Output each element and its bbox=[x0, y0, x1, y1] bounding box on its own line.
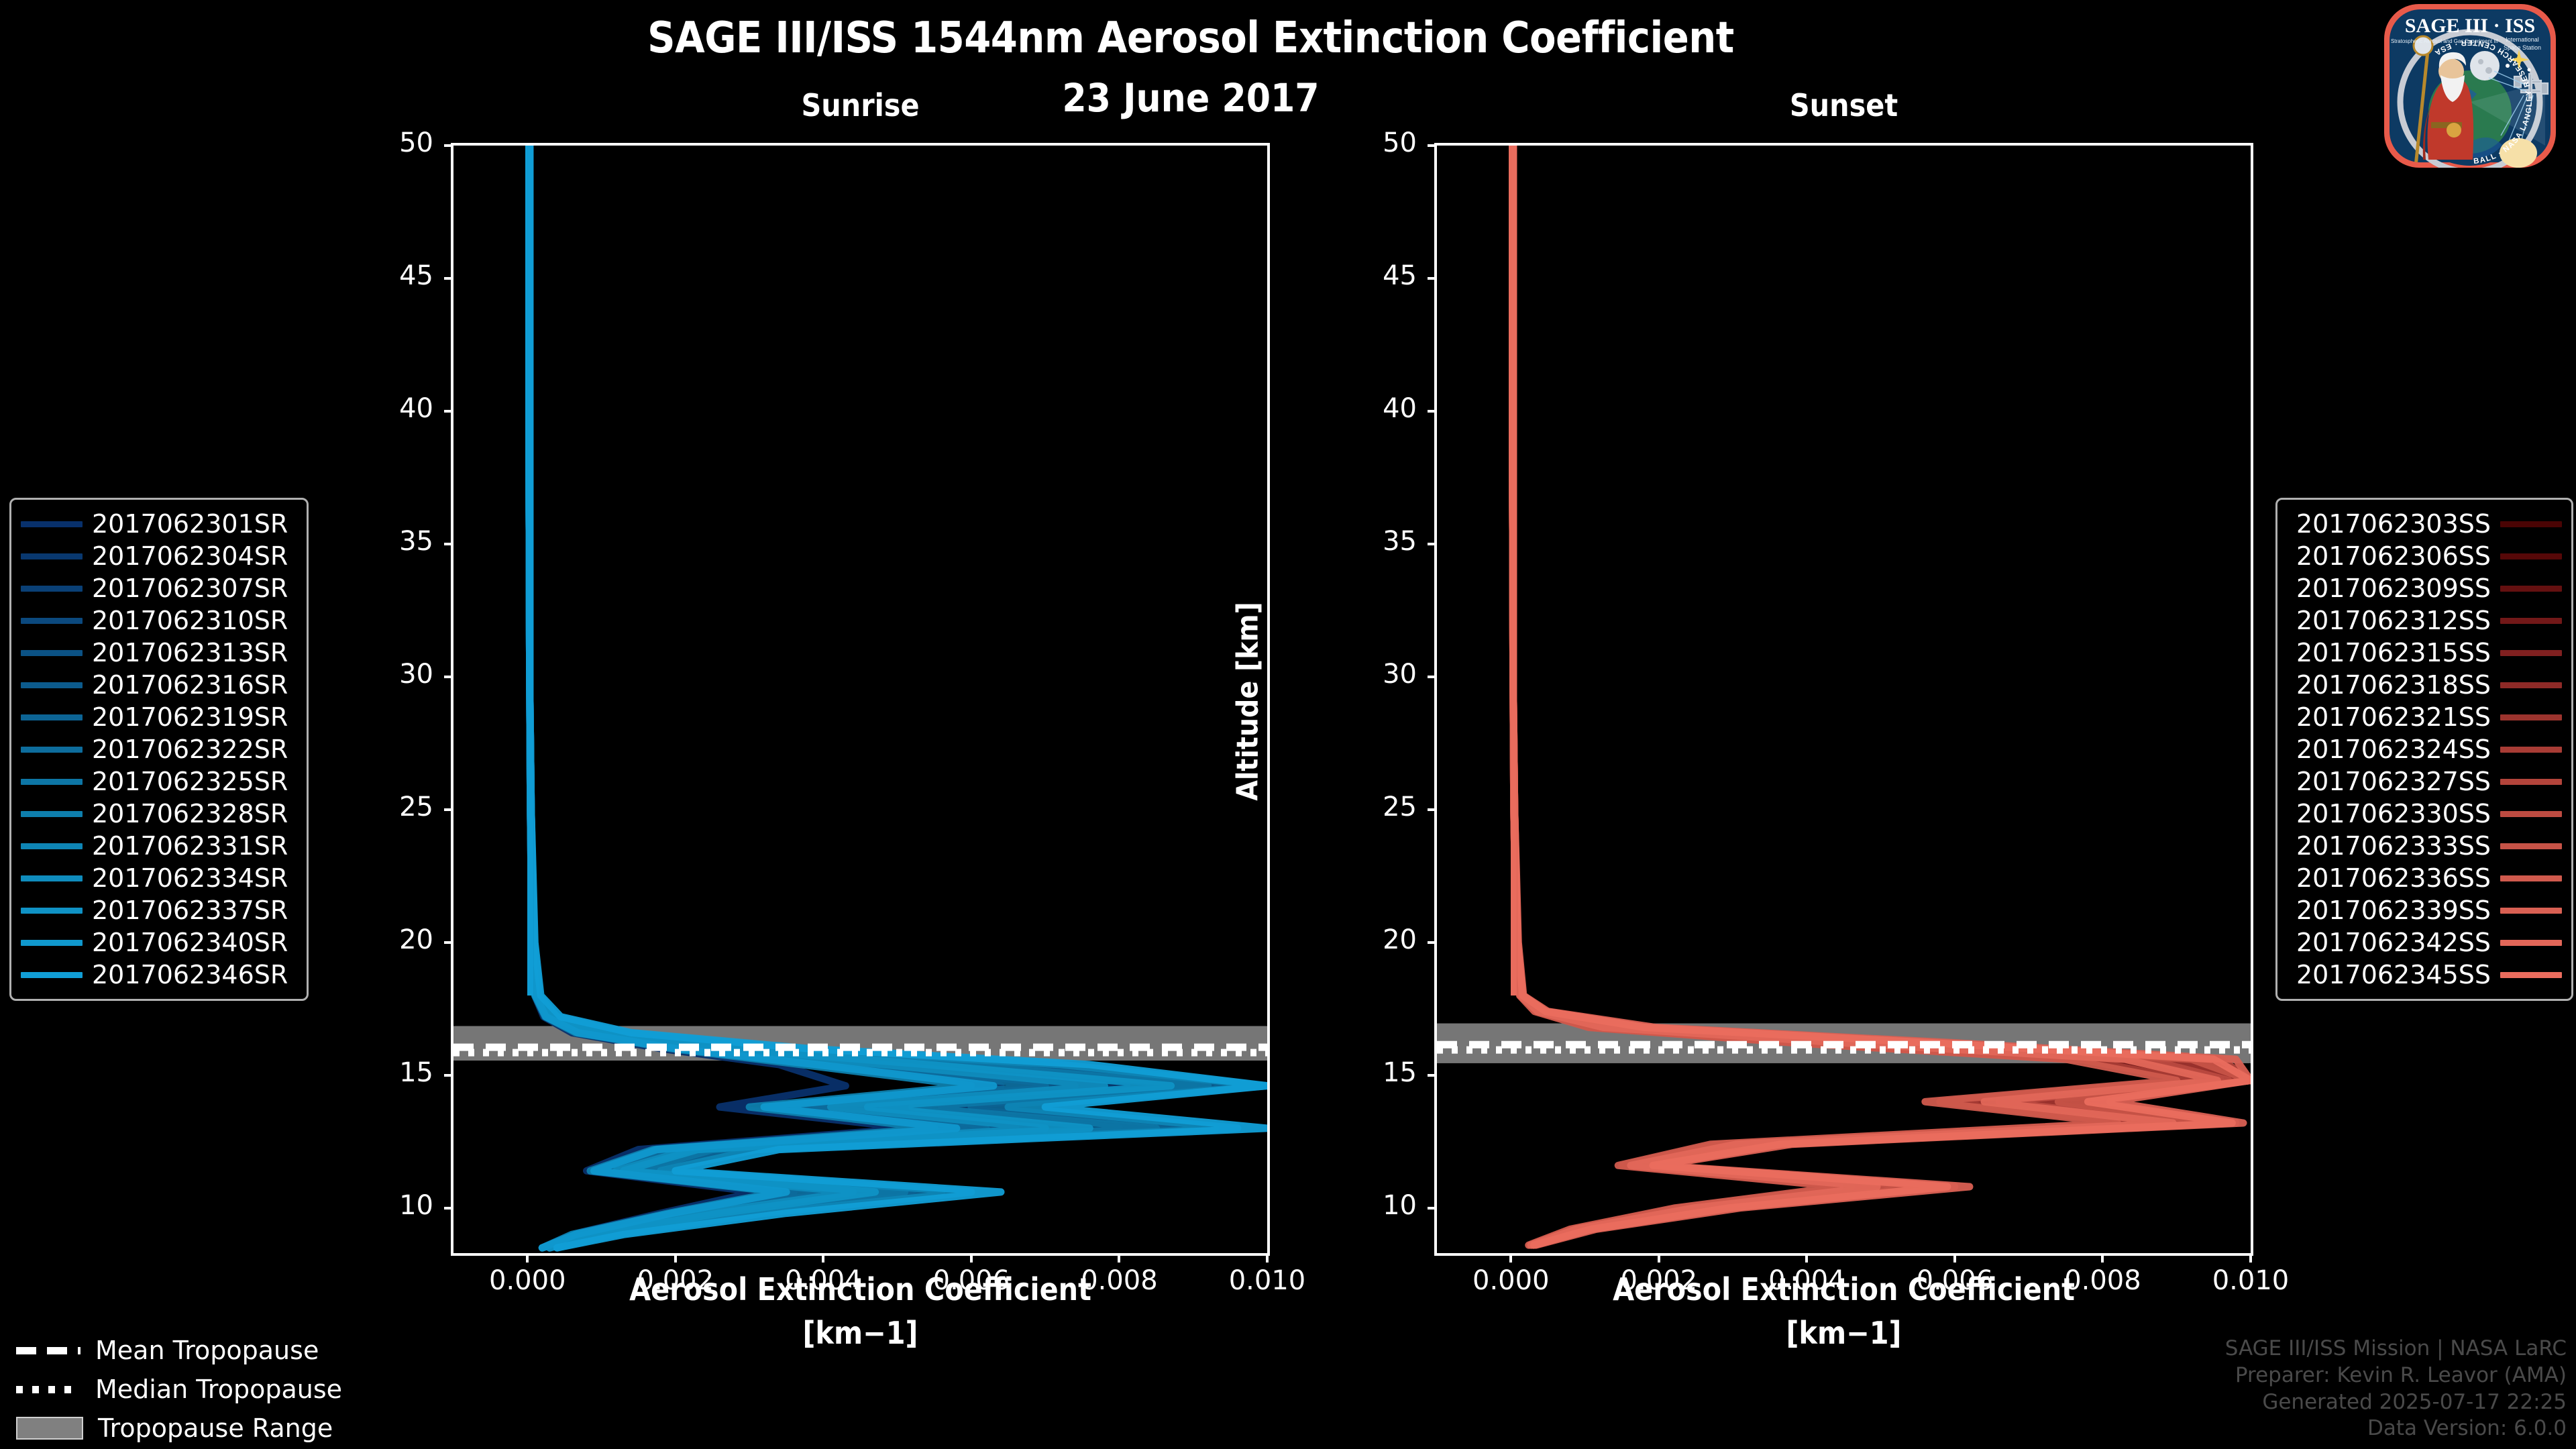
legend-color-swatch bbox=[21, 553, 83, 559]
tropopause-key-label: Mean Tropopause bbox=[95, 1336, 319, 1365]
legend-label: 2017062301SR bbox=[83, 509, 297, 539]
xtick-mark bbox=[970, 1253, 973, 1263]
xaxis-title-sunset-line2: [km−1] bbox=[1434, 1315, 2253, 1351]
ytick-label: 45 bbox=[1343, 260, 1417, 291]
legend-label: 2017062345SS bbox=[2287, 960, 2500, 989]
legend-sunset-item[interactable]: 2017062306SS bbox=[2287, 540, 2562, 572]
legend-label: 2017062322SR bbox=[83, 735, 297, 764]
panel-title-sunrise: Sunrise bbox=[451, 87, 1270, 123]
tropopause-dashed-glyph-icon bbox=[16, 1347, 80, 1354]
legend-sunrise-item[interactable]: 2017062301SR bbox=[21, 508, 297, 540]
legend-color-swatch bbox=[2500, 618, 2562, 624]
legend-color-swatch bbox=[2500, 747, 2562, 753]
legend-color-swatch bbox=[2500, 586, 2562, 592]
xaxis-title-sunrise-line2: [km−1] bbox=[451, 1315, 1270, 1351]
xtick-mark bbox=[822, 1253, 824, 1263]
svg-text:SAGE III · ISS: SAGE III · ISS bbox=[2405, 15, 2535, 37]
ytick-mark bbox=[444, 941, 453, 944]
legend-sunset-item[interactable]: 2017062336SS bbox=[2287, 862, 2562, 894]
tropopause-band-glyph-icon bbox=[16, 1417, 83, 1440]
legend-sunrise-item[interactable]: 2017062313SR bbox=[21, 637, 297, 669]
ytick-label: 40 bbox=[360, 393, 433, 424]
legend-sunrise-item[interactable]: 2017062322SR bbox=[21, 733, 297, 765]
legend-label: 2017062328SR bbox=[83, 799, 297, 828]
legend-label: 2017062325SR bbox=[83, 767, 297, 796]
legend-label: 2017062304SR bbox=[83, 541, 297, 571]
legend-color-swatch bbox=[21, 747, 83, 753]
legend-color-swatch bbox=[2500, 972, 2562, 978]
legend-label: 2017062331SR bbox=[83, 831, 297, 861]
legend-sunrise[interactable]: 2017062301SR2017062304SR2017062307SR2017… bbox=[9, 498, 309, 1001]
legend-color-swatch bbox=[2500, 843, 2562, 849]
legend-label: 2017062312SS bbox=[2287, 606, 2500, 635]
legend-sunset-item[interactable]: 2017062309SS bbox=[2287, 572, 2562, 604]
tropopause-key-item: Median Tropopause bbox=[16, 1370, 342, 1409]
legend-sunrise-item[interactable]: 2017062340SR bbox=[21, 926, 297, 959]
legend-sunrise-item[interactable]: 2017062328SR bbox=[21, 798, 297, 830]
legend-sunrise-item[interactable]: 2017062310SR bbox=[21, 604, 297, 637]
ytick-mark bbox=[1428, 543, 1437, 545]
xtick-mark bbox=[1118, 1253, 1120, 1263]
xtick-mark bbox=[1266, 1253, 1269, 1263]
legend-label: 2017062333SS bbox=[2287, 831, 2500, 861]
legend-sunrise-item[interactable]: 2017062334SR bbox=[21, 862, 297, 894]
profile-line bbox=[1513, 146, 2177, 1245]
xtick-mark bbox=[1805, 1253, 1808, 1263]
xtick-mark bbox=[526, 1253, 529, 1263]
svg-text:Space Station: Space Station bbox=[2504, 44, 2541, 51]
ytick-mark bbox=[1428, 1207, 1437, 1210]
ytick-label: 35 bbox=[360, 526, 433, 557]
ytick-mark bbox=[1428, 410, 1437, 413]
legend-color-swatch bbox=[21, 682, 83, 688]
legend-label: 2017062342SS bbox=[2287, 928, 2500, 957]
legend-color-swatch bbox=[2500, 908, 2562, 914]
legend-label: 2017062324SS bbox=[2287, 735, 2500, 764]
plot-area-sunrise bbox=[451, 143, 1270, 1256]
legend-sunrise-item[interactable]: 2017062304SR bbox=[21, 540, 297, 572]
credit-line-generated: Generated 2025-07-17 22:25 bbox=[2225, 1389, 2567, 1416]
legend-color-swatch bbox=[21, 843, 83, 849]
legend-color-swatch bbox=[2500, 650, 2562, 656]
legend-label: 2017062321SS bbox=[2287, 702, 2500, 732]
ytick-mark bbox=[1428, 144, 1437, 147]
legend-label: 2017062339SS bbox=[2287, 896, 2500, 925]
legend-sunrise-item[interactable]: 2017062331SR bbox=[21, 830, 297, 862]
ytick-label: 10 bbox=[1343, 1190, 1417, 1221]
legend-sunset-item[interactable]: 2017062339SS bbox=[2287, 894, 2562, 926]
ytick-label: 30 bbox=[1343, 659, 1417, 690]
legend-color-swatch bbox=[21, 586, 83, 592]
ytick-mark bbox=[444, 410, 453, 413]
xtick-mark bbox=[2101, 1253, 2104, 1263]
ytick-label: 50 bbox=[1343, 127, 1417, 158]
legend-label: 2017062336SS bbox=[2287, 863, 2500, 893]
profile-line bbox=[1513, 146, 2221, 1245]
legend-color-swatch bbox=[21, 714, 83, 720]
legend-sunset-item[interactable]: 2017062342SS bbox=[2287, 926, 2562, 959]
ytick-label: 40 bbox=[1343, 393, 1417, 424]
ytick-label: 20 bbox=[1343, 924, 1417, 955]
ytick-label: 50 bbox=[360, 127, 433, 158]
legend-label: 2017062315SS bbox=[2287, 638, 2500, 667]
credit-line-version: Data Version: 6.0.0 bbox=[2225, 1415, 2567, 1442]
ytick-label: 45 bbox=[360, 260, 433, 291]
ytick-mark bbox=[444, 808, 453, 811]
panel-title-sunset: Sunset bbox=[1434, 87, 2253, 123]
legend-color-swatch bbox=[2500, 553, 2562, 559]
ytick-mark bbox=[1428, 277, 1437, 280]
legend-sunset-item[interactable]: 2017062330SS bbox=[2287, 798, 2562, 830]
legend-sunrise-item[interactable]: 2017062319SR bbox=[21, 701, 297, 733]
tropopause-key-label: Median Tropopause bbox=[95, 1375, 342, 1404]
page-title: SAGE III/ISS 1544nm Aerosol Extinction C… bbox=[0, 13, 2479, 63]
legend-color-swatch bbox=[2500, 875, 2562, 881]
legend-color-swatch bbox=[21, 650, 83, 656]
legend-color-swatch bbox=[2500, 779, 2562, 785]
ytick-mark bbox=[444, 144, 453, 147]
ytick-label: 25 bbox=[360, 792, 433, 822]
legend-label: 2017062303SS bbox=[2287, 509, 2500, 539]
xtick-mark bbox=[1658, 1253, 1660, 1263]
credit-line-preparer: Preparer: Kevin R. Leavor (AMA) bbox=[2225, 1362, 2567, 1389]
profile-line bbox=[529, 146, 912, 1248]
svg-text:International: International bbox=[2506, 36, 2539, 43]
legend-color-swatch bbox=[21, 811, 83, 817]
profile-line bbox=[1513, 146, 2214, 1245]
sage-iii-iss-mission-patch-logo: BALL · NASA LANGLEY RESEARCH CENTER · ES… bbox=[2369, 1, 2571, 169]
legend-sunrise-item[interactable]: 2017062346SR bbox=[21, 959, 297, 991]
legend-sunset-item[interactable]: 2017062333SS bbox=[2287, 830, 2562, 862]
ytick-mark bbox=[1428, 676, 1437, 678]
ytick-mark bbox=[444, 1207, 453, 1210]
legend-label: 2017062337SR bbox=[83, 896, 297, 925]
legend-label: 2017062330SS bbox=[2287, 799, 2500, 828]
profile-line bbox=[1513, 146, 2229, 1245]
tropopause-dotted-glyph-icon bbox=[16, 1386, 80, 1393]
legend-color-swatch bbox=[21, 908, 83, 914]
legend-sunrise-item[interactable]: 2017062325SR bbox=[21, 765, 297, 798]
ytick-label: 30 bbox=[360, 659, 433, 690]
ytick-mark bbox=[1428, 1074, 1437, 1077]
credit-block: SAGE III/ISS Mission | NASA LaRC Prepare… bbox=[2225, 1336, 2567, 1442]
legend-sunset-item[interactable]: 2017062318SS bbox=[2287, 669, 2562, 701]
legend-label: 2017062310SR bbox=[83, 606, 297, 635]
svg-text:Stratospheric Aerosol and Gas: Stratospheric Aerosol and Gas Experiment… bbox=[2391, 38, 2498, 44]
legend-sunrise-item[interactable]: 2017062307SR bbox=[21, 572, 297, 604]
legend-sunset-item[interactable]: 2017062321SS bbox=[2287, 701, 2562, 733]
ytick-label: 15 bbox=[360, 1057, 433, 1088]
ytick-mark bbox=[444, 1074, 453, 1077]
ytick-label: 15 bbox=[1343, 1057, 1417, 1088]
yaxis-title-sunset: Altitude [km] bbox=[1231, 568, 1265, 836]
tropopause-key-label: Tropopause Range bbox=[98, 1413, 333, 1443]
legend-color-swatch bbox=[21, 618, 83, 624]
figure-root: SAGE III/ISS 1544nm Aerosol Extinction C… bbox=[0, 0, 2576, 1449]
xtick-mark bbox=[1509, 1253, 1512, 1263]
legend-color-swatch bbox=[2500, 714, 2562, 720]
legend-label: 2017062307SR bbox=[83, 574, 297, 603]
legend-sunset-item[interactable]: 2017062327SS bbox=[2287, 765, 2562, 798]
legend-sunset-item[interactable]: 2017062315SS bbox=[2287, 637, 2562, 669]
profile-line bbox=[1513, 146, 2192, 1245]
legend-label: 2017062319SR bbox=[83, 702, 297, 732]
profile-line bbox=[1513, 146, 2218, 1245]
legend-color-swatch bbox=[21, 521, 83, 527]
tropopause-key: Mean TropopauseMedian TropopauseTropopau… bbox=[16, 1331, 342, 1448]
legend-label: 2017062306SS bbox=[2287, 541, 2500, 571]
ytick-mark bbox=[1428, 808, 1437, 811]
legend-sunset-item[interactable]: 2017062303SS bbox=[2287, 508, 2562, 540]
legend-sunrise-item[interactable]: 2017062316SR bbox=[21, 669, 297, 701]
profile-lines-sunset bbox=[1437, 146, 2251, 1253]
xtick-mark bbox=[2249, 1253, 2252, 1263]
ytick-mark bbox=[444, 676, 453, 678]
legend-color-swatch bbox=[21, 779, 83, 785]
plot-area-sunset bbox=[1434, 143, 2253, 1256]
legend-label: 2017062327SS bbox=[2287, 767, 2500, 796]
legend-color-swatch bbox=[2500, 940, 2562, 946]
credit-line-mission: SAGE III/ISS Mission | NASA LaRC bbox=[2225, 1336, 2567, 1362]
legend-color-swatch bbox=[2500, 521, 2562, 527]
legend-label: 2017062309SS bbox=[2287, 574, 2500, 603]
legend-label: 2017062313SR bbox=[83, 638, 297, 667]
tropopause-key-item: Mean Tropopause bbox=[16, 1331, 342, 1370]
legend-color-swatch bbox=[2500, 811, 2562, 817]
ytick-mark bbox=[1428, 941, 1437, 944]
legend-label: 2017062318SS bbox=[2287, 670, 2500, 700]
legend-color-swatch bbox=[2500, 682, 2562, 688]
legend-sunset[interactable]: 2017062303SS2017062306SS2017062309SS2017… bbox=[2275, 498, 2573, 1001]
legend-color-swatch bbox=[21, 972, 83, 978]
legend-label: 2017062340SR bbox=[83, 928, 297, 957]
ytick-label: 20 bbox=[360, 924, 433, 955]
xtick-mark bbox=[1953, 1253, 1956, 1263]
legend-sunrise-item[interactable]: 2017062337SR bbox=[21, 894, 297, 926]
legend-sunset-item[interactable]: 2017062312SS bbox=[2287, 604, 2562, 637]
ytick-mark bbox=[444, 543, 453, 545]
xaxis-title-sunrise-line1: Aerosol Extinction Coefficient bbox=[451, 1271, 1270, 1307]
legend-sunset-item[interactable]: 2017062324SS bbox=[2287, 733, 2562, 765]
legend-label: 2017062316SR bbox=[83, 670, 297, 700]
xtick-mark bbox=[674, 1253, 677, 1263]
legend-label: 2017062334SR bbox=[83, 863, 297, 893]
legend-color-swatch bbox=[21, 940, 83, 946]
profile-line bbox=[1513, 146, 2206, 1245]
ytick-mark bbox=[444, 277, 453, 280]
legend-label: 2017062346SR bbox=[83, 960, 297, 989]
profile-line bbox=[529, 146, 971, 1248]
ytick-label: 10 bbox=[360, 1190, 433, 1221]
ytick-label: 35 bbox=[1343, 526, 1417, 557]
legend-color-swatch bbox=[21, 875, 83, 881]
ytick-label: 25 bbox=[1343, 792, 1417, 822]
legend-sunset-item[interactable]: 2017062345SS bbox=[2287, 959, 2562, 991]
xaxis-title-sunset-line1: Aerosol Extinction Coefficient bbox=[1434, 1271, 2253, 1307]
profile-lines-sunrise bbox=[453, 146, 1267, 1253]
tropopause-key-item: Tropopause Range bbox=[16, 1409, 342, 1448]
